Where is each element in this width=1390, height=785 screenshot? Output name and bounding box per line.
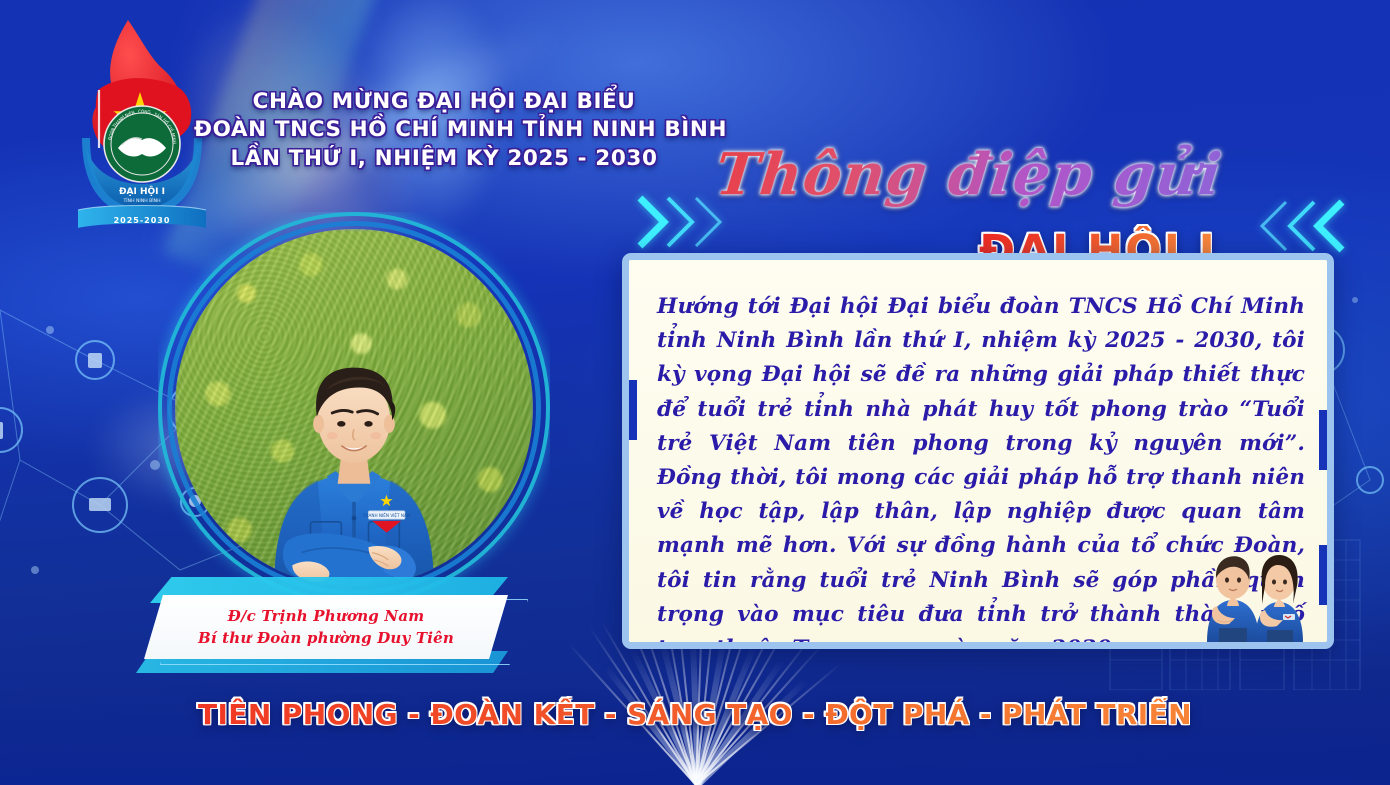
poster-canvas: ĐOÀN THANH NIÊN CỘNG SẢN HỒ CHÍ MINH ĐẠI…	[0, 0, 1390, 785]
doan-tncs-emblem: ĐOÀN THANH NIÊN CỘNG SẢN HỒ CHÍ MINH ĐẠI…	[72, 12, 212, 238]
header-line-3: LẦN THỨ I, NHIỆM KỲ 2025 - 2030	[194, 145, 694, 173]
portrait-photo: THANH NIÊN VIỆT NAM	[175, 229, 533, 587]
svg-text:THANH NIÊN VIỆT NAM: THANH NIÊN VIỆT NAM	[362, 513, 411, 518]
speaker-role: Bí thư Đoàn phường Duy Tiên	[198, 627, 454, 649]
chevron-left-icon	[1258, 190, 1348, 262]
photo-person: THANH NIÊN VIỆT NAM	[175, 315, 533, 587]
header-line-1: CHÀO MỪNG ĐẠI HỘI ĐẠI BIỂU	[194, 88, 694, 116]
card-notch-right	[1319, 410, 1328, 470]
card-notch-left	[628, 380, 637, 440]
cartoon-youth-duo-illustration	[1189, 530, 1321, 642]
header-line-2: ĐOÀN TNCS HỒ CHÍ MINH TỈNH NINH BÌNH	[194, 116, 694, 144]
speaker-caption-banner: Đ/c Trịnh Phương Nam Bí thư Đoàn phường …	[136, 595, 514, 665]
caption-text: Đ/c Trịnh Phương Nam Bí thư Đoàn phường …	[144, 595, 508, 659]
slogan-banner: TIÊN PHONG - ĐOÀN KẾT - SÁNG TẠO - ĐỘT P…	[0, 698, 1390, 731]
svg-text:ĐẠI HỘI I: ĐẠI HỘI I	[119, 186, 165, 197]
portrait-photo-frame: THANH NIÊN VIỆT NAM	[158, 212, 550, 604]
chevron-right-icon	[634, 186, 726, 258]
message-card: Hướng tới Đại hội Đại biểu đoàn TNCS Hồ …	[622, 253, 1334, 649]
svg-text:CỘNG: CỘNG	[138, 109, 151, 115]
welcome-header: CHÀO MỪNG ĐẠI HỘI ĐẠI BIỂU ĐOÀN TNCS HỒ …	[194, 88, 694, 173]
script-title-thong-diep-gui: Thông điệp gửi	[712, 140, 1225, 208]
speaker-name: Đ/c Trịnh Phương Nam	[228, 605, 425, 627]
